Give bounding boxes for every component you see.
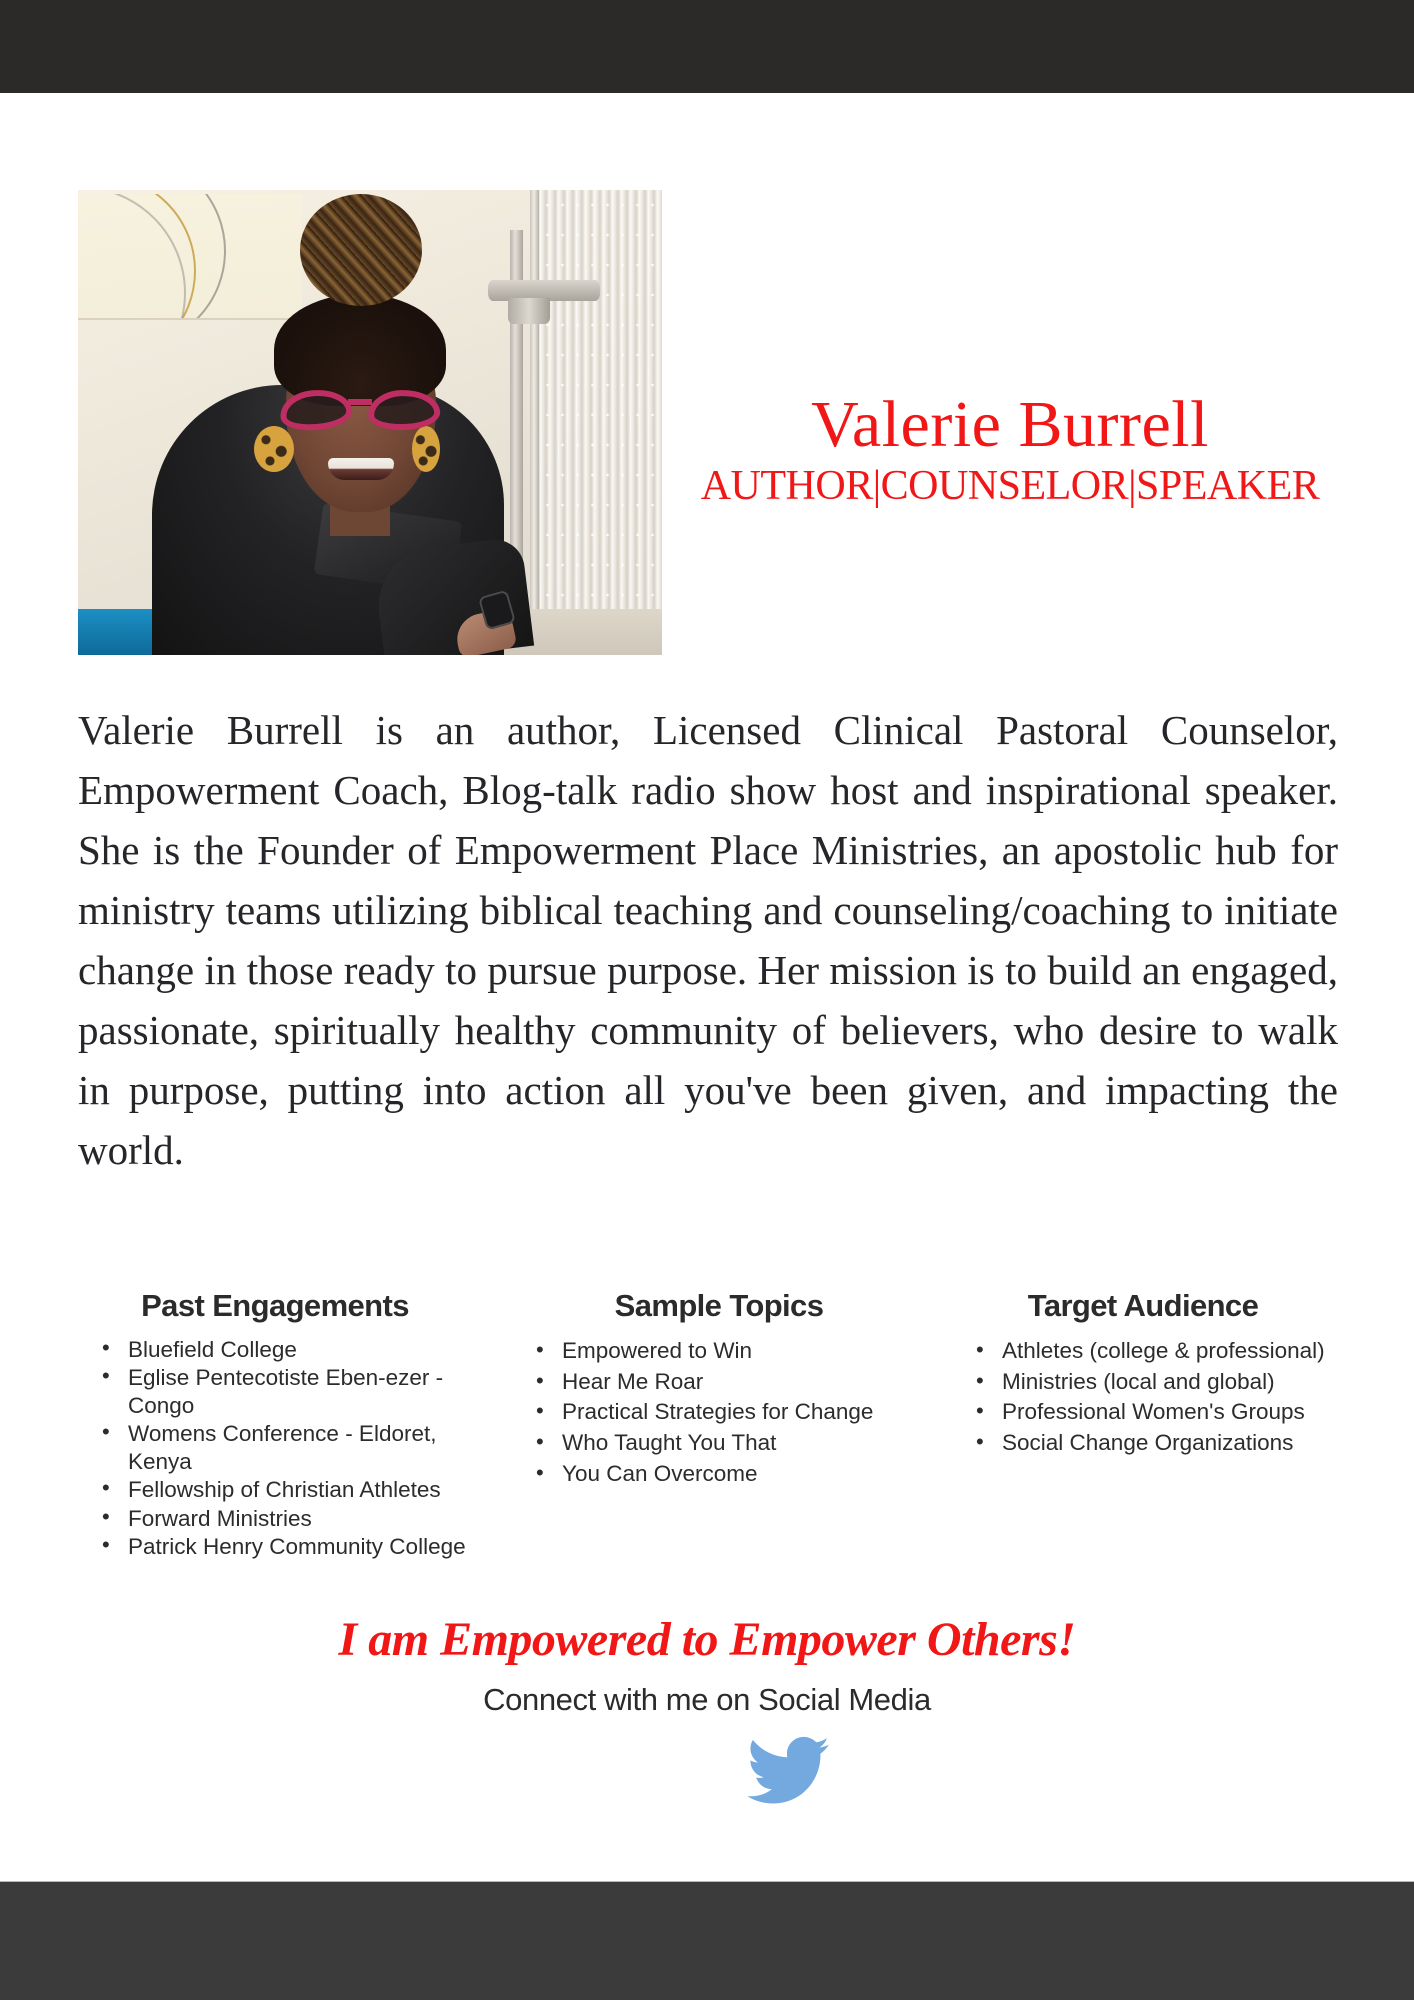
bottom-banner-bar xyxy=(0,1882,1414,2000)
list-item: Womens Conference - Eldoret, Kenya xyxy=(124,1420,490,1475)
photo-person-earring-left xyxy=(254,426,294,472)
linkedin-n-stem xyxy=(725,1799,736,1826)
photo-person-smile xyxy=(328,458,394,480)
connect-label: Connect with me on Social Media xyxy=(0,1682,1414,1718)
photo-glasses-bridge xyxy=(348,399,372,405)
list-item: Empowered to Win xyxy=(558,1336,930,1366)
photo-person-hair-bun xyxy=(300,194,422,306)
column-past-engagements: Past Engagements Bluefield College Eglis… xyxy=(60,1288,490,1562)
photo-lamp-pole-secondary xyxy=(530,190,539,655)
bio-paragraph: Valerie Burrell is an author, Licensed C… xyxy=(78,700,1338,1181)
list-item: Professional Women's Groups xyxy=(998,1397,1370,1427)
list-item: You Can Overcome xyxy=(558,1459,930,1489)
photo-person-earring-right xyxy=(412,426,440,472)
list-item: Ministries (local and global) xyxy=(998,1367,1370,1397)
photo-wall-art xyxy=(78,194,302,320)
target-audience-list: Athletes (college & professional) Minist… xyxy=(936,1336,1370,1458)
column-target-audience: Target Audience Athletes (college & prof… xyxy=(930,1288,1370,1459)
past-engagements-list: Bluefield College Eglise Pentecotiste Eb… xyxy=(84,1336,490,1561)
twitter-link[interactable] xyxy=(747,1736,829,1806)
list-item: Who Taught You That xyxy=(558,1428,930,1458)
list-item: Practical Strategies for Change xyxy=(558,1397,930,1427)
photo-glasses-lens-right xyxy=(367,388,441,432)
list-item: Hear Me Roar xyxy=(558,1367,930,1397)
linkedin-i-dot xyxy=(708,1785,719,1795)
column-heading: Target Audience xyxy=(936,1288,1370,1324)
top-banner-bar xyxy=(0,0,1414,93)
list-item: Forward Ministries xyxy=(124,1505,490,1532)
column-heading: Past Engagements xyxy=(84,1288,490,1324)
list-item: Bluefield College xyxy=(124,1336,490,1363)
photo-wall-art-line xyxy=(78,194,186,320)
page-subtitle: AUTHOR|COUNSELOR|SPEAKER xyxy=(660,464,1360,509)
social-links: f xyxy=(0,1736,1414,1806)
photo-person-glasses xyxy=(278,390,446,432)
portrait-photo xyxy=(78,190,662,655)
list-item: Athletes (college & professional) xyxy=(998,1336,1370,1366)
column-sample-topics: Sample Topics Empowered to Win Hear Me R… xyxy=(490,1288,930,1489)
name-block: Valerie Burrell AUTHOR|COUNSELOR|SPEAKER xyxy=(660,392,1360,509)
list-item: Patrick Henry Community College xyxy=(124,1533,490,1560)
column-heading: Sample Topics xyxy=(490,1288,930,1324)
photo-curtain xyxy=(540,190,662,655)
tagline: I am Empowered to Empower Others! xyxy=(0,1612,1414,1667)
instagram-dot xyxy=(691,1789,700,1798)
page-title: Valerie Burrell xyxy=(660,392,1360,458)
list-item: Social Change Organizations xyxy=(998,1428,1370,1458)
instagram-lens xyxy=(662,1794,690,1822)
photo-lamp-neck xyxy=(508,298,550,324)
sample-topics-list: Empowered to Win Hear Me Roar Practical … xyxy=(490,1336,930,1488)
list-item: Fellowship of Christian Athletes xyxy=(124,1476,490,1503)
info-columns: Past Engagements Bluefield College Eglis… xyxy=(60,1288,1370,1562)
facebook-glyph: f xyxy=(575,1740,596,1802)
linkedin-i-stem xyxy=(708,1799,719,1826)
twitter-icon[interactable] xyxy=(747,1793,829,1810)
list-item: Eglise Pentecotiste Eben-ezer - Congo xyxy=(124,1364,490,1419)
photo-glasses-lens-left xyxy=(278,386,354,433)
